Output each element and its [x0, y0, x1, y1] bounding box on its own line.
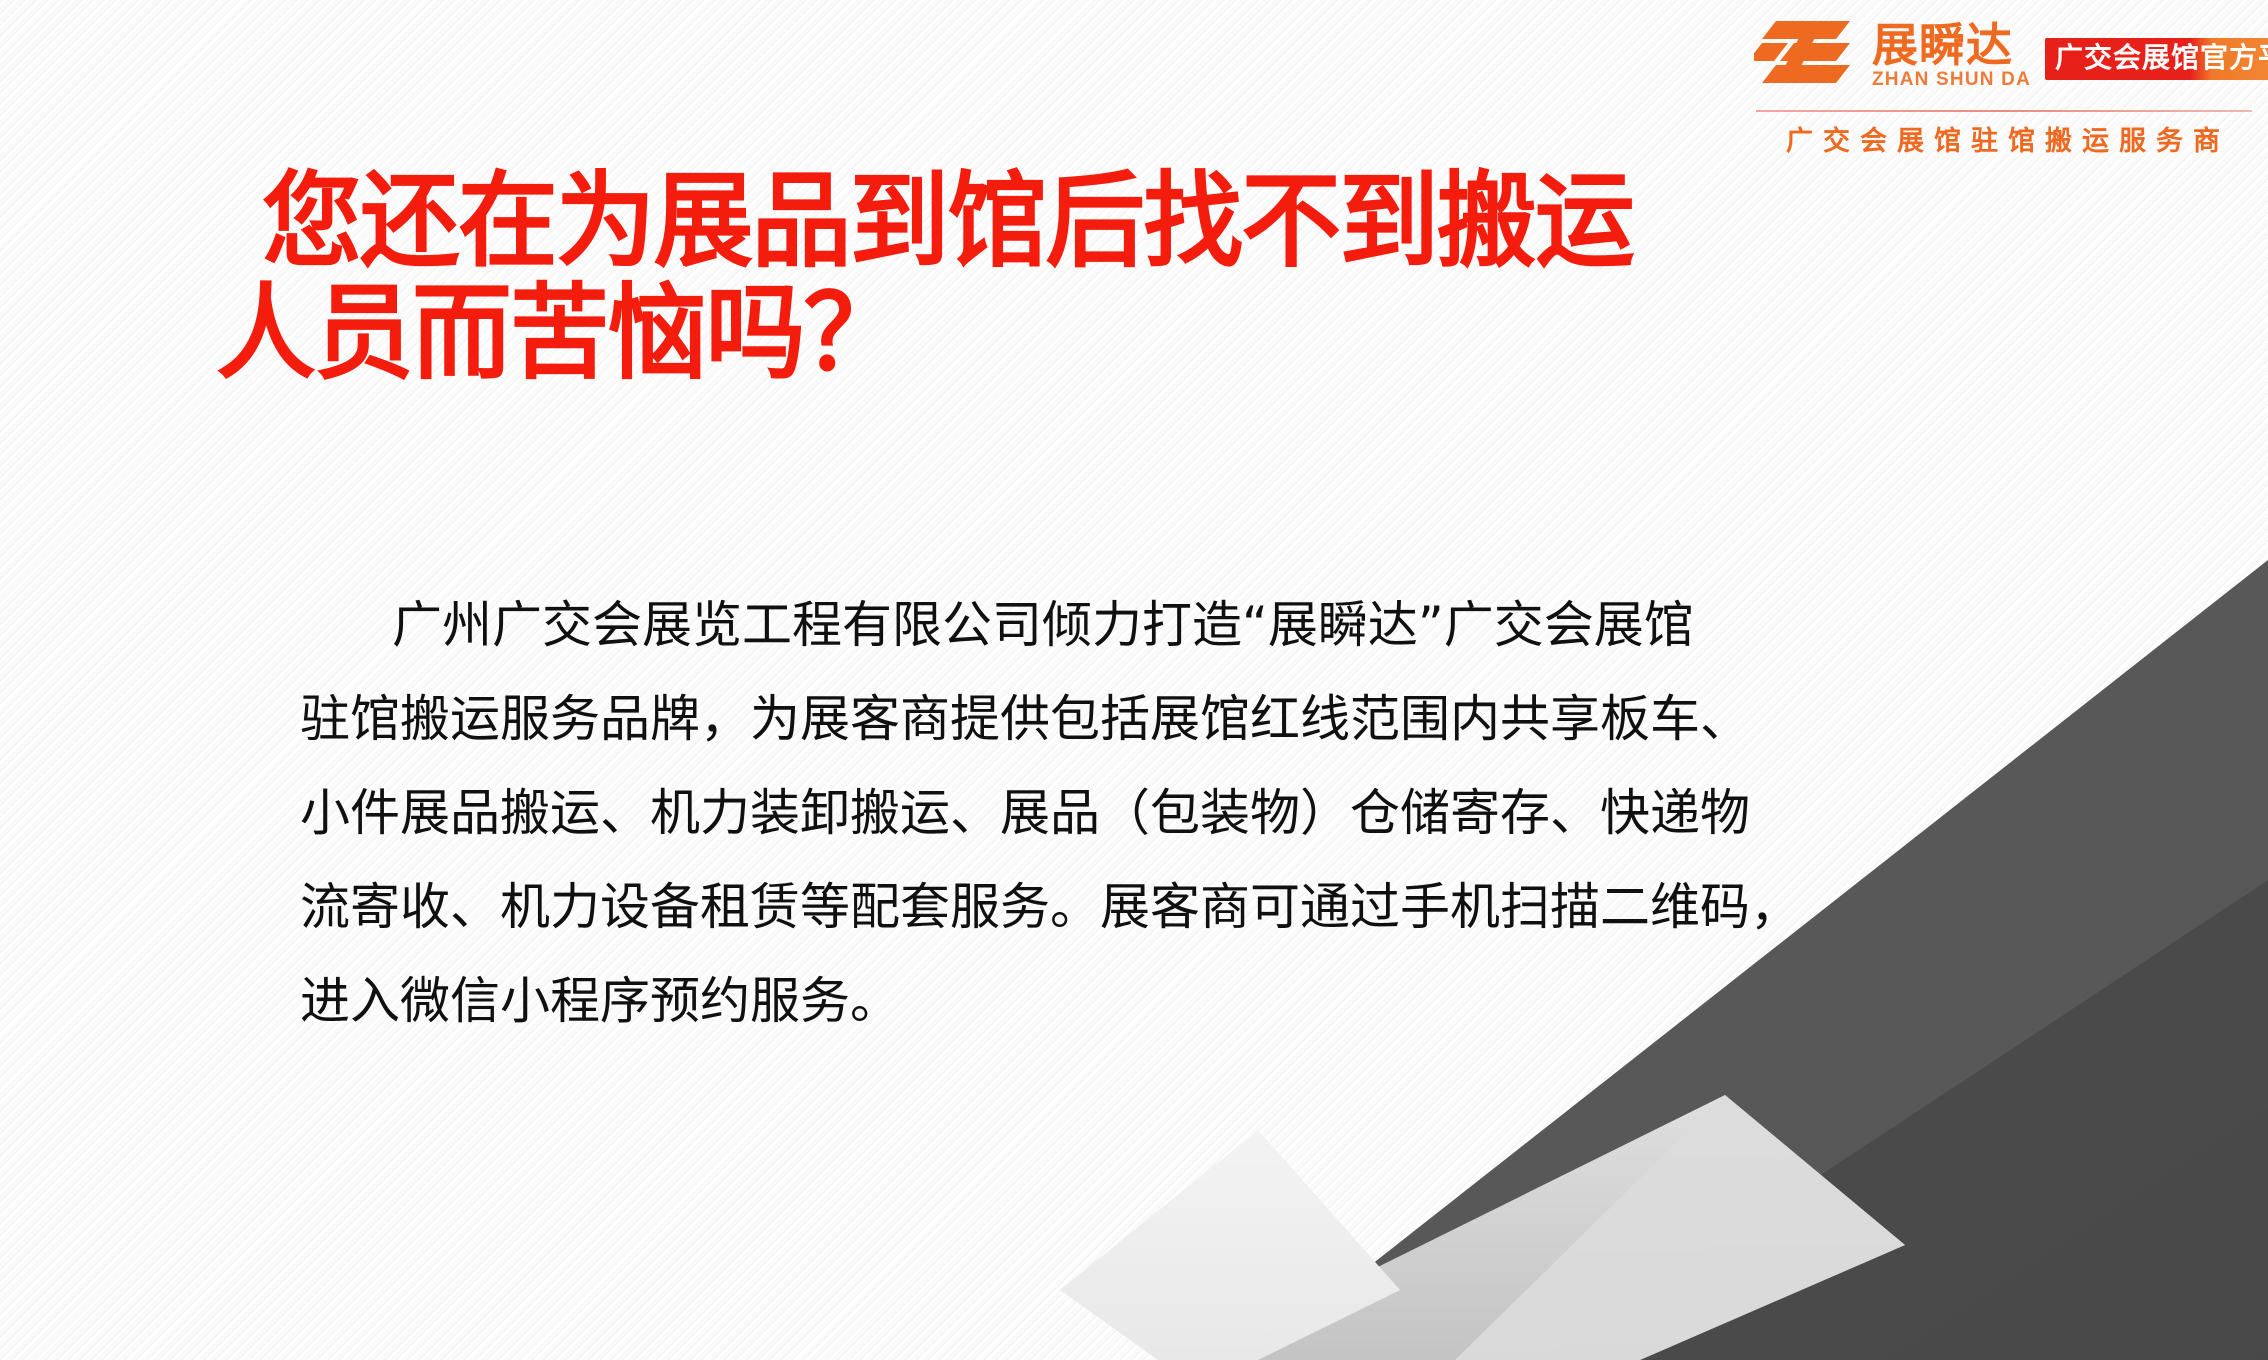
slide-canvas: 展瞬达 ZHAN SHUN DA 广交会展馆官方平台 广交会展馆驻馆搬运服务商 … [0, 0, 2268, 1360]
headline-line-1: 您还在为展品到馆后找不到搬运 [262, 165, 1798, 277]
decor-diamond-mid-b [1455, 1095, 1905, 1360]
logo-brand-cn: 展瞬达 [1872, 22, 2031, 68]
official-platform-badge: 广交会展馆官方平台 [2045, 38, 2268, 79]
page-title: 您还在为展品到馆后找不到搬运 人员而苦恼吗？ [262, 165, 1862, 390]
logo-tagline: 广交会展馆驻馆搬运服务商 [1754, 119, 2254, 158]
brand-logo-block: 展瞬达 ZHAN SHUN DA 广交会展馆官方平台 广交会展馆驻馆搬运服务商 [1754, 8, 2254, 158]
zigzag-stripes-icon [1754, 13, 1866, 99]
logo-divider-rule [1756, 110, 2252, 112]
logo-brand-en: ZHAN SHUN DA [1872, 70, 2031, 91]
body-line-2: 驻馆搬运服务品牌，为展客商提供包括展馆红线范围内共享板车、 [300, 672, 1900, 766]
body-line-3: 小件展品搬运、机力装卸搬运、展品（包装物）仓储寄存、快递物 [300, 766, 1900, 860]
body-line-5: 进入微信小程序预约服务。 [300, 954, 1900, 1048]
decor-diamond-mid [1190, 1095, 1905, 1360]
body-paragraph: 广州广交会展览工程有限公司倾力打造“展瞬达”广交会展馆 驻馆搬运服务品牌，为展客… [300, 578, 1900, 1048]
body-line-4: 流寄收、机力设备租赁等配套服务。展客商可通过手机扫描二维码， [300, 860, 1900, 954]
logo-top-row: 展瞬达 ZHAN SHUN DA 广交会展馆官方平台 [1754, 8, 2254, 104]
logo-wordmark: 展瞬达 ZHAN SHUN DA [1872, 22, 2031, 91]
decor-diamond-faint [1060, 1130, 1400, 1360]
body-line-1: 广州广交会展览工程有限公司倾力打造“展瞬达”广交会展馆 [300, 578, 1900, 672]
headline-line-2: 人员而苦恼吗？ [216, 277, 1796, 389]
